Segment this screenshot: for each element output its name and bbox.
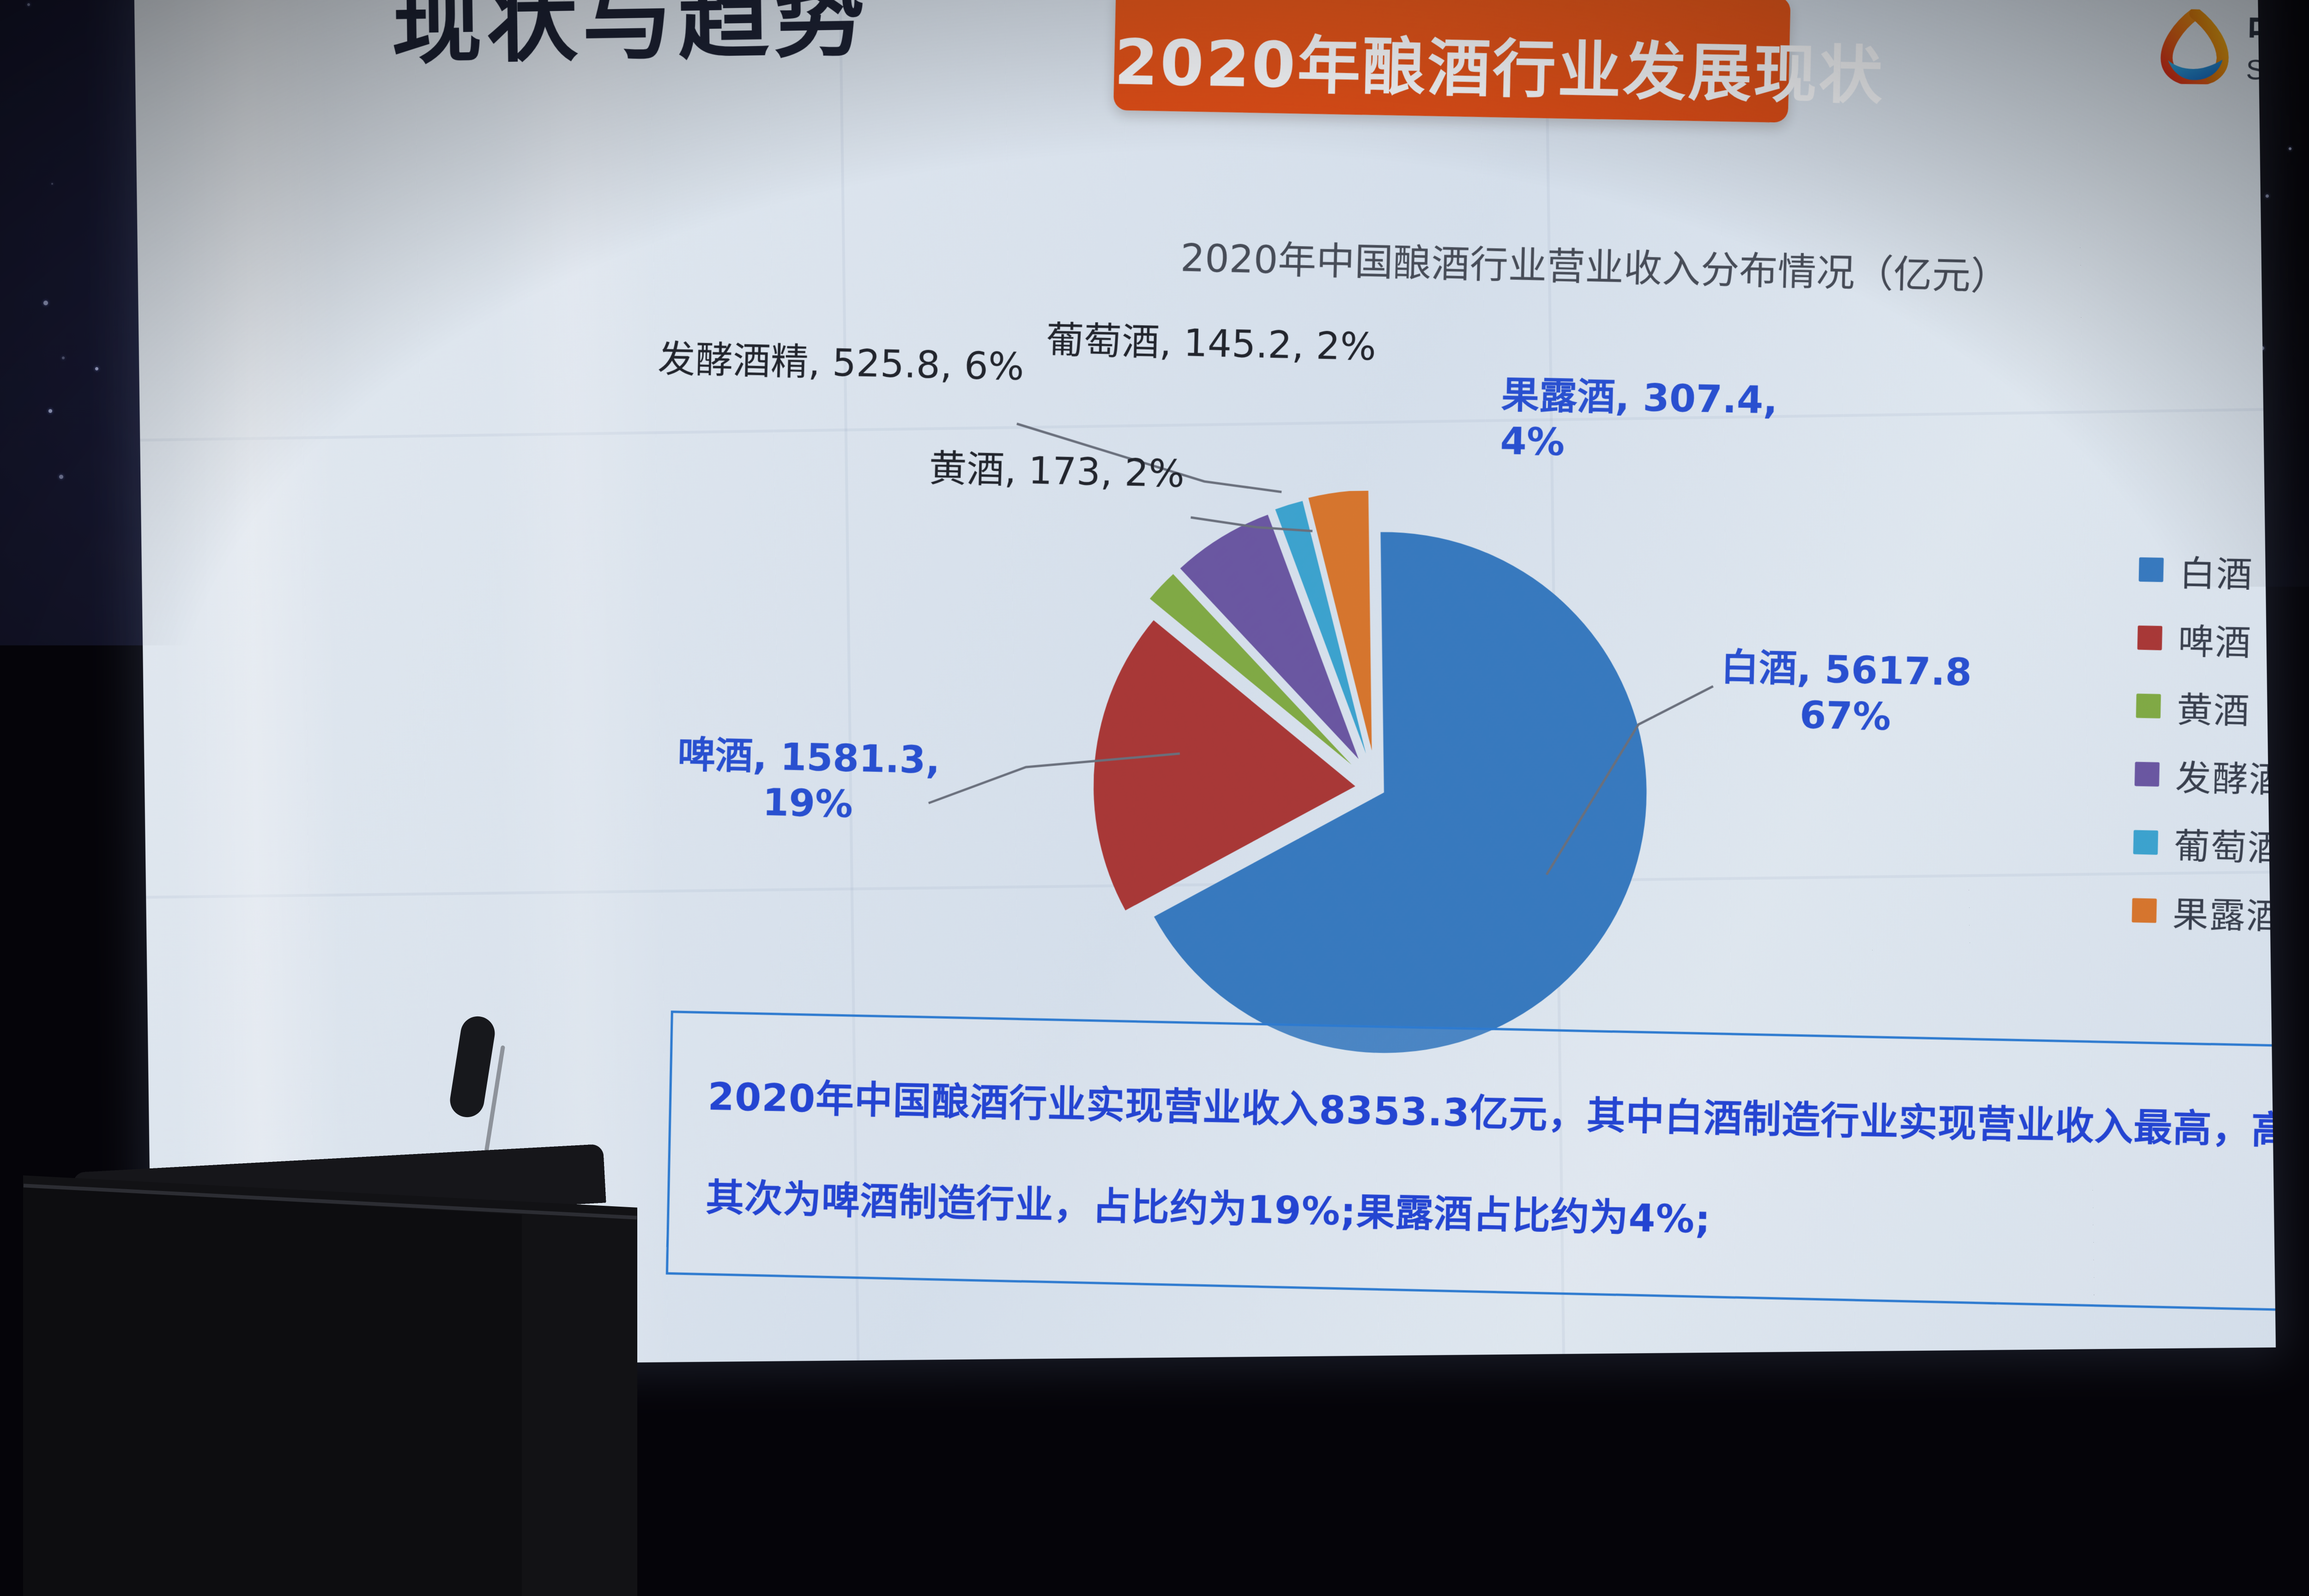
legend-swatch-葡萄酒: [2133, 830, 2158, 855]
legend-label: 白酒: [2179, 544, 2254, 597]
lectern-front-panel: [23, 1187, 522, 1596]
pie-label-huangjiu: 黄酒, 173, 2%: [928, 446, 1185, 498]
legend-item-发酵酒精: 发酵酒精: [2134, 740, 2276, 812]
slide-title-text: 2020年酿酒行业发展现状: [1113, 11, 1790, 114]
lectern: [55, 1122, 665, 1596]
pie-label-pijiu-line1: 啤酒, 1581.3,: [677, 732, 940, 784]
legend-swatch-黄酒: [2136, 694, 2161, 719]
presentation-photo: 现状与趋势 2020年酿酒行业发展现状: [0, 0, 2309, 1596]
legend-item-黄酒: 黄酒: [2135, 671, 2276, 744]
legend-swatch-发酵酒精: [2134, 762, 2159, 787]
legend-item-葡萄酒: 葡萄酒: [2133, 808, 2276, 880]
chart-legend: 白酒啤酒黄酒发酵酒精葡萄酒果露酒: [2131, 535, 2276, 948]
chart-title: 2020年中国酿酒行业营业收入分布情况（亿元）: [1180, 227, 2010, 301]
eyeglasses-icon: [1228, 793, 1422, 843]
slide-heading: 现状与趋势: [390, 0, 870, 81]
eyeglass-bridge: [1335, 810, 1345, 814]
pie-label-guolujiu: 果露酒, 307.4, 4%: [1500, 372, 1778, 470]
legend-swatch-啤酒: [2137, 625, 2162, 650]
legend-label: 黄酒: [2176, 681, 2251, 733]
speaker-person: [984, 683, 1579, 1596]
legend-label: 葡萄酒: [2174, 817, 2276, 871]
legend-item-果露酒: 果露酒: [2131, 876, 2276, 948]
speaker-trousers: [1052, 1467, 1530, 1596]
shirt-button: [1294, 1330, 1306, 1342]
pie-label-pijiu: 啤酒, 1581.3, 19%: [676, 732, 941, 829]
sinolight-loop-icon: [2159, 9, 2231, 85]
legend-item-白酒: 白酒: [2138, 535, 2276, 607]
pie-label-guolujiu-line1: 果露酒, 307.4,: [1501, 372, 1778, 424]
legend-label: 啤酒: [2178, 613, 2253, 665]
legend-label: 果露酒: [2172, 885, 2276, 939]
legend-label: 发酵酒精: [2175, 749, 2276, 804]
pie-label-baijiu-line1: 白酒, 5617.8: [1720, 645, 1972, 696]
eyeglass-lens-right: [1342, 799, 1428, 846]
mic-grille: [1372, 1179, 1445, 1271]
pie-label-putaojiu: 葡萄酒, 145.2, 2%: [1046, 318, 1377, 371]
legend-swatch-白酒: [2139, 557, 2164, 582]
legend-swatch-果露酒: [2132, 898, 2157, 923]
pie-label-baijiu-line2: 67%: [1719, 690, 1971, 742]
shirt-button: [1294, 1090, 1306, 1102]
pie-label-pijiu-line2: 19%: [676, 778, 939, 830]
pie-label-fajiaojiujing: 发酵酒精, 525.8, 6%: [657, 337, 1025, 390]
legend-item-啤酒: 啤酒: [2137, 604, 2276, 676]
slide-title-banner: 2020年酿酒行业发展现状: [1113, 0, 1791, 123]
pie-label-guolujiu-line2: 4%: [1500, 418, 1777, 470]
eyeglass-lens-left: [1256, 799, 1342, 846]
pie-label-baijiu: 白酒, 5617.8 67%: [1719, 645, 1972, 742]
